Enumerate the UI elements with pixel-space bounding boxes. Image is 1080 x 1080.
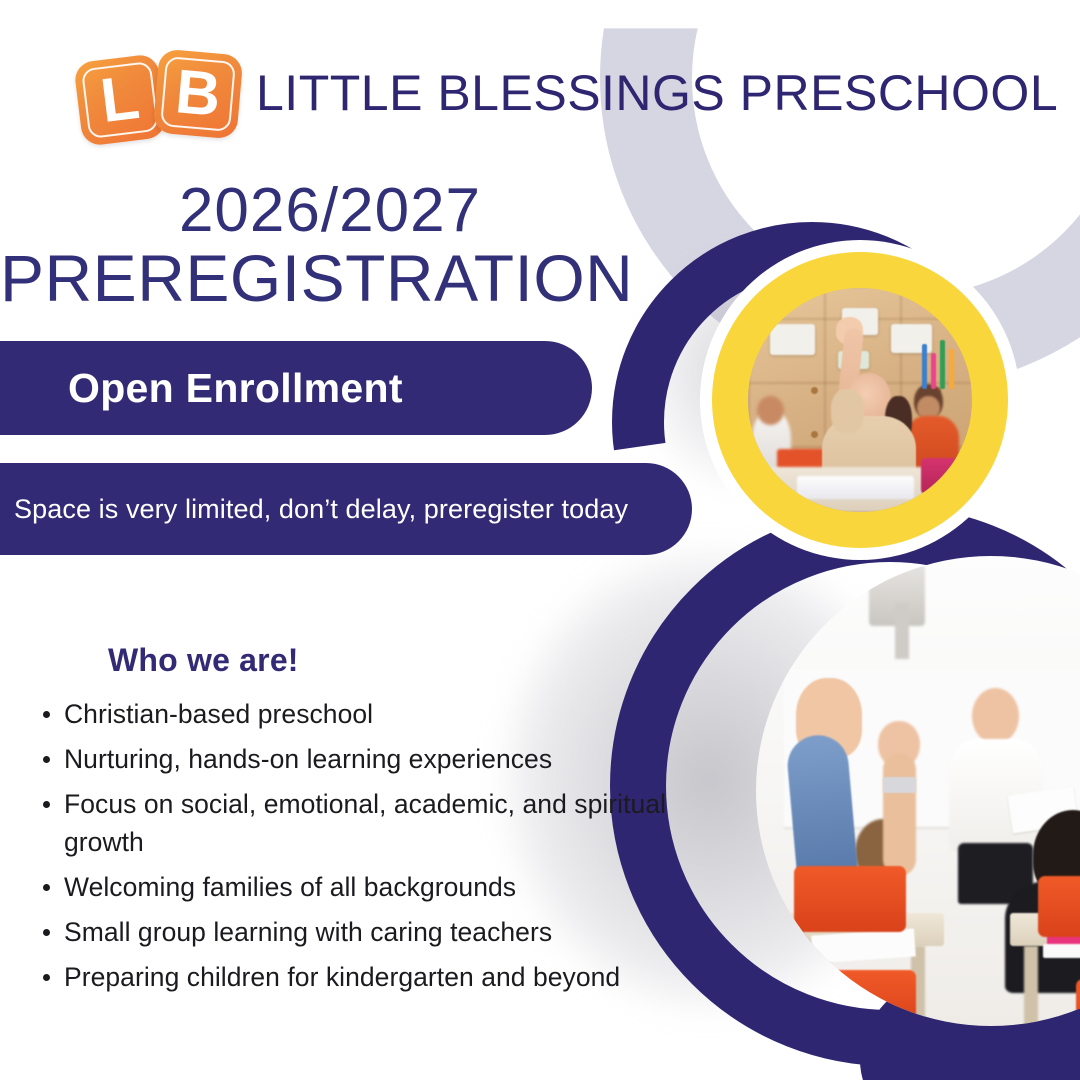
brand-name: LITTLE BLESSINGS PRESCHOOL: [256, 64, 1058, 122]
list-item: Preparing children for kindergarten and …: [36, 958, 676, 996]
logo-letter-b: B: [173, 61, 223, 127]
classroom-students-photo: [756, 556, 1080, 1026]
logo-letter-l: L: [97, 67, 142, 133]
who-we-are-list: Christian-based preschool Nurturing, han…: [36, 695, 676, 1003]
logo-tile-b: B: [152, 48, 243, 139]
white-gap-ring-decoration: [700, 240, 1020, 560]
navy-tail-bottom-decoration: [860, 940, 1080, 1080]
yellow-ring-decoration: [712, 252, 1008, 548]
navy-ring-bottom-decoration: [610, 506, 1080, 1066]
page-title: PREREGISTRATION: [0, 240, 620, 316]
list-item: Small group learning with caring teacher…: [36, 913, 676, 951]
who-we-are-heading: Who we are!: [108, 642, 299, 679]
open-enrollment-banner: Open Enrollment: [0, 341, 592, 435]
girl-raising-hand-photo: [748, 288, 972, 512]
list-item: Welcoming families of all backgrounds: [36, 868, 676, 906]
list-item: Christian-based preschool: [36, 695, 676, 733]
little-blessings-logo: L B: [78, 48, 253, 148]
preschool-preregistration-flyer: L B LITTLE BLESSINGS PRESCHOOL 2026/2027…: [0, 0, 1080, 1080]
school-year-heading: 2026/2027: [0, 175, 660, 246]
urgency-banner: Space is very limited, don’t delay, prer…: [0, 463, 692, 555]
navy-ring-top-decoration: [612, 222, 1012, 622]
lavender-arc-decoration: [600, 0, 1080, 388]
list-item: Nurturing, hands-on learning experiences: [36, 740, 676, 778]
list-item: Focus on social, emotional, academic, an…: [36, 785, 676, 861]
logo-tile-l: L: [73, 53, 167, 147]
